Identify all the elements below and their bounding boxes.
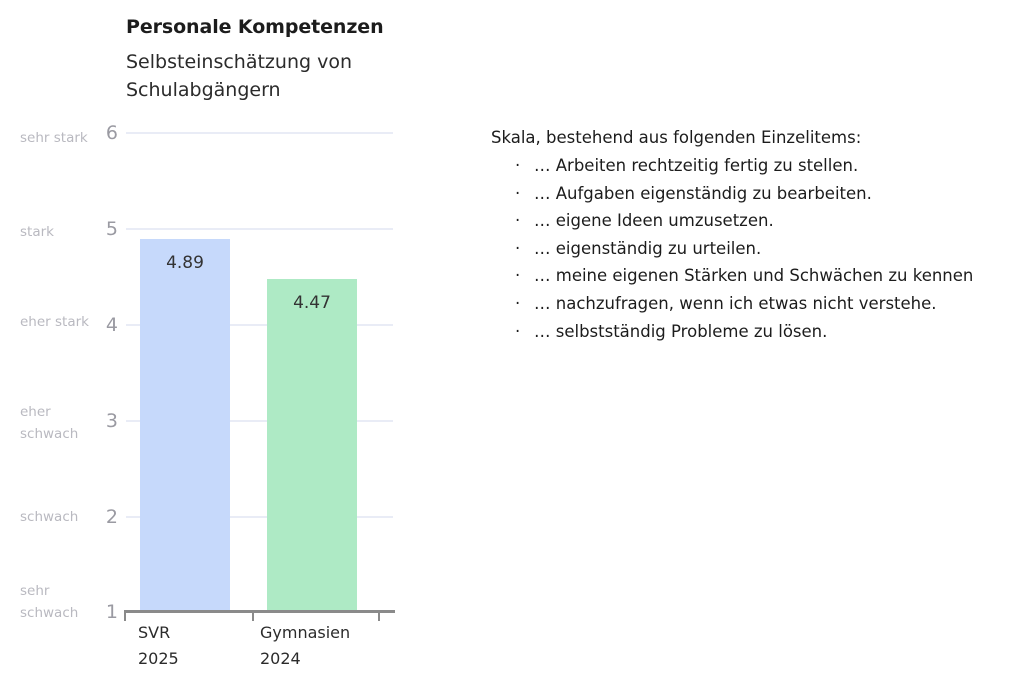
bullet-icon: · [515, 290, 520, 318]
bar-value-gymnasien-2024: 4.47 [267, 293, 357, 313]
scale-item: ·… nachzufragen, wenn ich etwas nicht ve… [491, 290, 1031, 318]
bullet-icon: · [515, 152, 520, 180]
scale-item-label: … Arbeiten rechtzeitig fertig zu stellen… [534, 156, 858, 175]
scale-item: ·… eigenständig zu urteilen. [491, 235, 1031, 263]
y-tick-descriptor-2: schwach [20, 506, 112, 528]
bullet-icon: · [515, 235, 520, 263]
y-tick-descriptor-4: eher stark [20, 311, 112, 333]
bullet-icon: · [515, 207, 520, 235]
y-tick-descriptor-6: sehr stark [20, 127, 112, 149]
scale-item: ·… Arbeiten rechtzeitig fertig zu stelle… [491, 152, 1031, 180]
scale-item-label: … nachzufragen, wenn ich etwas nicht ver… [534, 294, 937, 313]
x-axis-line [124, 610, 395, 613]
gridline-6 [126, 132, 393, 134]
scale-item-label: … selbstständig Probleme zu lösen. [534, 322, 827, 341]
y-tick-descriptor-1: sehr schwach [20, 580, 112, 624]
scale-notes: Skala, bestehend aus folgenden Einzelite… [491, 124, 1031, 345]
bar-svr-2025[interactable]: 4.89 [140, 239, 230, 612]
bar-value-svr-2025: 4.89 [140, 253, 230, 273]
x-axis-tick-2 [378, 610, 380, 621]
scale-item-label: … meine eigenen Stärken und Schwächen zu… [534, 266, 973, 285]
scale-item: ·… eigene Ideen umzusetzen. [491, 207, 1031, 235]
x-axis-tick-1 [252, 610, 254, 621]
gridline-5 [126, 228, 393, 230]
scale-item-label: … eigenständig zu urteilen. [534, 239, 761, 258]
bullet-icon: · [515, 180, 520, 208]
bullet-icon: · [515, 318, 520, 346]
chart-panel: Personale Kompetenzen Selbsteinschätzung… [0, 0, 470, 687]
x-category-label-gymnasien-2024: Gymnasien 2024 [260, 620, 350, 672]
plot-area: 6 5 4 3 2 1 sehr stark stark eher stark … [0, 0, 470, 687]
scale-item-label: … eigene Ideen umzusetzen. [534, 211, 774, 230]
scale-items-list: ·… Arbeiten rechtzeitig fertig zu stelle… [491, 152, 1031, 345]
scale-item-label: … Aufgaben eigenständig zu bearbeiten. [534, 184, 872, 203]
scale-item: ·… meine eigenen Stärken und Schwächen z… [491, 262, 1031, 290]
bar-gymnasien-2024[interactable]: 4.47 [267, 279, 357, 612]
y-tick-descriptor-5: stark [20, 221, 112, 243]
scale-item: ·… selbstständig Probleme zu lösen. [491, 318, 1031, 346]
scale-item: ·… Aufgaben eigenständig zu bearbeiten. [491, 180, 1031, 208]
scale-notes-heading: Skala, bestehend aus folgenden Einzelite… [491, 124, 1031, 152]
x-axis-tick-0 [124, 610, 126, 621]
bullet-icon: · [515, 262, 520, 290]
x-category-label-svr-2025: SVR 2025 [138, 620, 179, 672]
y-tick-descriptor-3: eher schwach [20, 401, 112, 445]
